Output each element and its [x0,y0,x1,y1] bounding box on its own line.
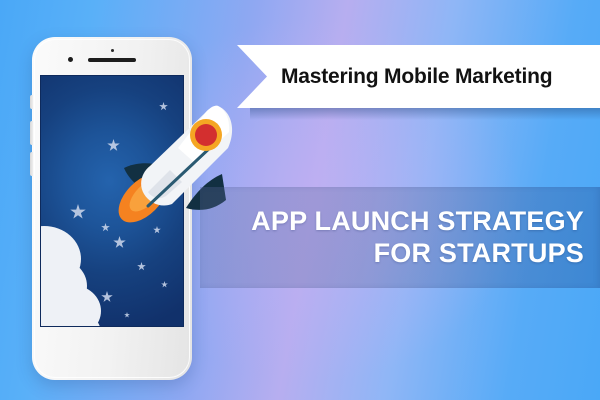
star-icon [107,139,120,152]
star-icon [153,226,161,234]
smartphone-device [32,37,192,380]
headline-line-2: FOR STARTUPS [374,238,600,270]
bottom-ribbon: APP LAUNCH STRATEGY FOR STARTUPS [200,187,600,288]
volume-up-button[interactable] [30,121,33,145]
star-icon [70,204,86,220]
star-icon [113,236,126,249]
star-icon [159,102,168,111]
top-ribbon: Mastering Mobile Marketing [237,45,600,108]
rocket-window-glass [195,124,217,146]
proximity-sensor-icon [111,49,114,52]
screen-artwork [41,76,183,326]
earpiece-speaker-icon [88,58,136,62]
top-ribbon-shadow [250,108,600,120]
phone-screen [40,75,184,327]
page-title: Mastering Mobile Marketing [281,65,552,89]
silent-switch-button[interactable] [30,95,33,109]
star-icon [161,281,168,288]
front-camera-icon [68,57,73,62]
star-icon [101,223,110,232]
headline-line-1: APP LAUNCH STRATEGY [251,206,600,238]
volume-down-button[interactable] [30,152,33,176]
rocket-window-ring [190,119,222,151]
star-icon [124,312,130,318]
star-icon [101,291,113,303]
star-icon [137,262,146,271]
promo-banner: Mastering Mobile Marketing APP LAUNCH ST… [0,0,600,400]
